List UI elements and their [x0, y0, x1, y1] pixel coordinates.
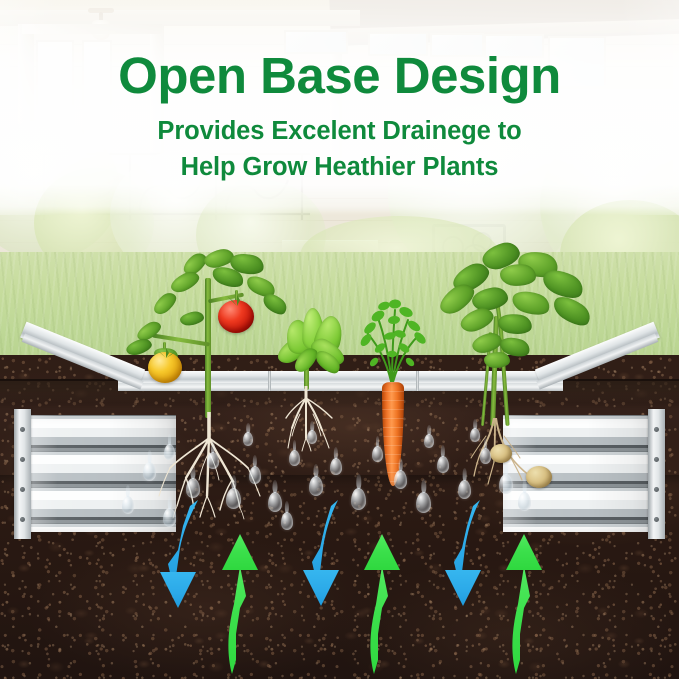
water-drop [307, 430, 317, 444]
water-drop [289, 450, 300, 466]
water-drop [470, 428, 480, 442]
water-drop [437, 456, 449, 473]
water-drop [268, 492, 282, 512]
water-drop [164, 444, 175, 460]
water-drop [249, 466, 261, 484]
headline-block: Open Base Design Provides Excelent Drain… [0, 50, 679, 185]
water-drop [226, 488, 241, 509]
water-drop [309, 476, 323, 496]
page-title: Open Base Design [0, 50, 679, 102]
water-drop [499, 474, 513, 494]
water-drop [394, 470, 407, 489]
water-drop [480, 448, 491, 464]
water-drop [186, 478, 200, 498]
water-drop [207, 452, 219, 469]
subtitle-line-1: Provides Excelent Drainege to [0, 115, 679, 149]
infographic-canvas: Open Base Design Provides Excelent Drain… [0, 0, 679, 679]
water-drop [458, 480, 471, 499]
water-drop [416, 492, 431, 513]
water-drop [330, 458, 342, 475]
water-drop [281, 512, 293, 530]
water-drop [518, 492, 531, 511]
water-drop [372, 446, 383, 462]
water-drop [163, 508, 176, 527]
water-drop [143, 462, 156, 481]
water-drop [424, 434, 434, 448]
subtitle-line-2: Help Grow Heathier Plants [0, 151, 679, 185]
water-drop [351, 488, 366, 510]
water-drop [122, 496, 134, 514]
water-drop [243, 432, 253, 446]
